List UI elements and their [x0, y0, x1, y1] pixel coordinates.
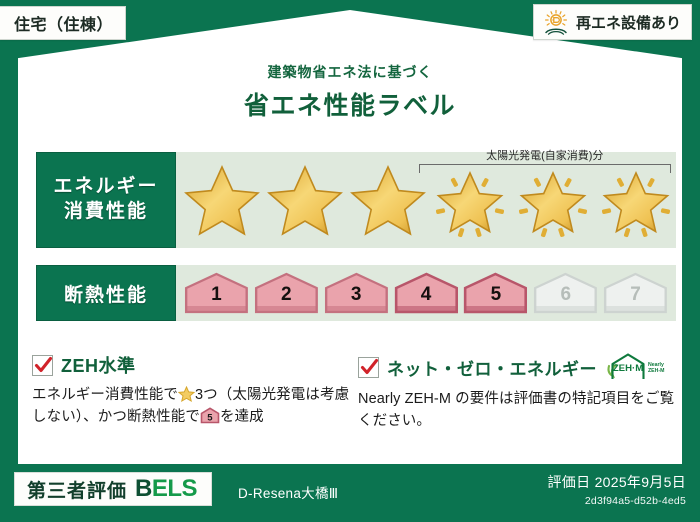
zeh-desc-part3: を達成	[220, 409, 264, 425]
building-type-text: 住宅（住棟）	[14, 11, 113, 35]
insulation-performance-label-box: 断熱性能	[36, 265, 176, 321]
star-1	[182, 163, 263, 237]
energy-stars-panel: 太陽光発電(自家消費)分	[176, 152, 676, 248]
zeh-standard-header: ZEH水準	[32, 352, 350, 378]
grade-3-value: 3	[324, 285, 389, 304]
evaluation-meta: 評価日 2025年9月5日 2d3f94a5-d52b-4ed5	[547, 472, 686, 507]
star-4-solar	[430, 163, 511, 237]
label-heading: 建築物省エネ法に基づく 省エネ性能ラベル	[0, 62, 700, 122]
grade-7: 7	[603, 272, 668, 314]
grade-6: 6	[533, 272, 598, 314]
zeh-standard-checkbox[interactable]	[32, 355, 53, 376]
evaluation-uid: 2d3f94a5-d52b-4ed5	[547, 495, 686, 507]
net-zero-energy-header: ネット・ゼロ・エネルギー ZEH·M Nearly ZEH-M	[358, 352, 680, 382]
net-zero-energy-description: Nearly ZEH-M の要件は評価書の特記項目をご覧ください。	[358, 388, 680, 433]
evaluation-date-value: 2025年9月5日	[595, 474, 686, 490]
project-name: D-Resena大橋Ⅲ	[238, 482, 338, 502]
zeh-m-logo-sub2: ZEH-M	[648, 368, 664, 374]
star-5-solar	[513, 163, 594, 237]
energy-performance-label: 住宅（住棟） 再エ	[0, 0, 700, 522]
grade-3: 3	[324, 272, 389, 314]
grade-2: 2	[254, 272, 319, 314]
inline-star-icon	[178, 386, 195, 402]
grade-5: 5	[463, 272, 528, 314]
insulation-label: 断熱性能	[64, 280, 148, 307]
grade-6-value: 6	[533, 285, 598, 304]
renewable-equipment-badge: 再エネ設備あり	[533, 4, 692, 40]
energy-label-line1: エネルギー	[53, 175, 158, 200]
grade-4: 4	[394, 272, 459, 314]
heading-subtitle: 建築物省エネ法に基づく	[0, 62, 700, 82]
net-zero-energy-title: ネット・ゼロ・エネルギー	[387, 355, 597, 380]
zeh-standard-block: ZEH水準 エネルギー消費性能で 3つ（太陽光発電は考慮しない）、かつ断熱性能で…	[32, 352, 350, 429]
insulation-grades-panel: 1 2 3	[176, 265, 676, 321]
renewable-badge-label: 再エネ設備あり	[576, 12, 681, 33]
evaluation-date: 評価日 2025年9月5日	[547, 472, 686, 492]
grade-2-value: 2	[254, 285, 319, 304]
sun-renewable-icon	[542, 9, 570, 35]
energy-star-rating	[176, 163, 676, 237]
bels-third-party-badge: 第三者評価 BELS	[14, 472, 212, 506]
bels-logo-b: B	[135, 475, 152, 502]
net-zero-energy-checkbox[interactable]	[358, 357, 379, 378]
evaluation-date-label: 評価日	[547, 474, 590, 490]
insulation-grade-scale: 1 2 3	[176, 272, 676, 314]
svg-text:5: 5	[207, 413, 213, 424]
label-footer: 第三者評価 BELS D-Resena大橋Ⅲ 評価日 2025年9月5日 2d3…	[0, 464, 700, 522]
heading-title: 省エネ性能ラベル	[0, 86, 700, 122]
grade-4-value: 4	[394, 285, 459, 304]
star-6-solar	[595, 163, 676, 237]
bels-logo: BELS	[135, 475, 197, 503]
net-zero-energy-block: ネット・ゼロ・エネルギー ZEH·M Nearly ZEH-M Nearly Z…	[358, 352, 680, 433]
insulation-performance-row: 断熱性能 1 2	[36, 265, 676, 321]
zeh-standard-description: エネルギー消費性能で 3つ（太陽光発電は考慮しない）、かつ断熱性能で 5 を達成	[32, 384, 350, 429]
zeh-m-logo-icon: ZEH·M Nearly ZEH-M	[605, 352, 665, 382]
energy-performance-row: エネルギー 消費性能 太陽光発電(自家消費)分	[36, 152, 676, 248]
energy-label-line2: 消費性能	[64, 200, 148, 225]
building-type-badge: 住宅（住棟）	[0, 6, 126, 40]
star-2	[265, 163, 346, 237]
grade-5-value: 5	[463, 285, 528, 304]
energy-performance-label-box: エネルギー 消費性能	[36, 152, 176, 248]
zeh-standard-title: ZEH水準	[61, 352, 136, 378]
grade-1-value: 1	[184, 285, 249, 304]
inline-grade-5-icon: 5	[200, 407, 220, 424]
solar-annotation-text: 太陽光発電(自家消費)分	[419, 150, 672, 162]
third-party-label: 第三者評価	[27, 476, 127, 503]
star-3	[347, 163, 428, 237]
zeh-m-logo-text: ZEH·M	[613, 363, 643, 374]
grade-1: 1	[184, 272, 249, 314]
grade-7-value: 7	[603, 285, 668, 304]
bels-logo-els: ELS	[152, 475, 197, 502]
zeh-desc-part1: エネルギー消費性能で	[32, 387, 178, 403]
